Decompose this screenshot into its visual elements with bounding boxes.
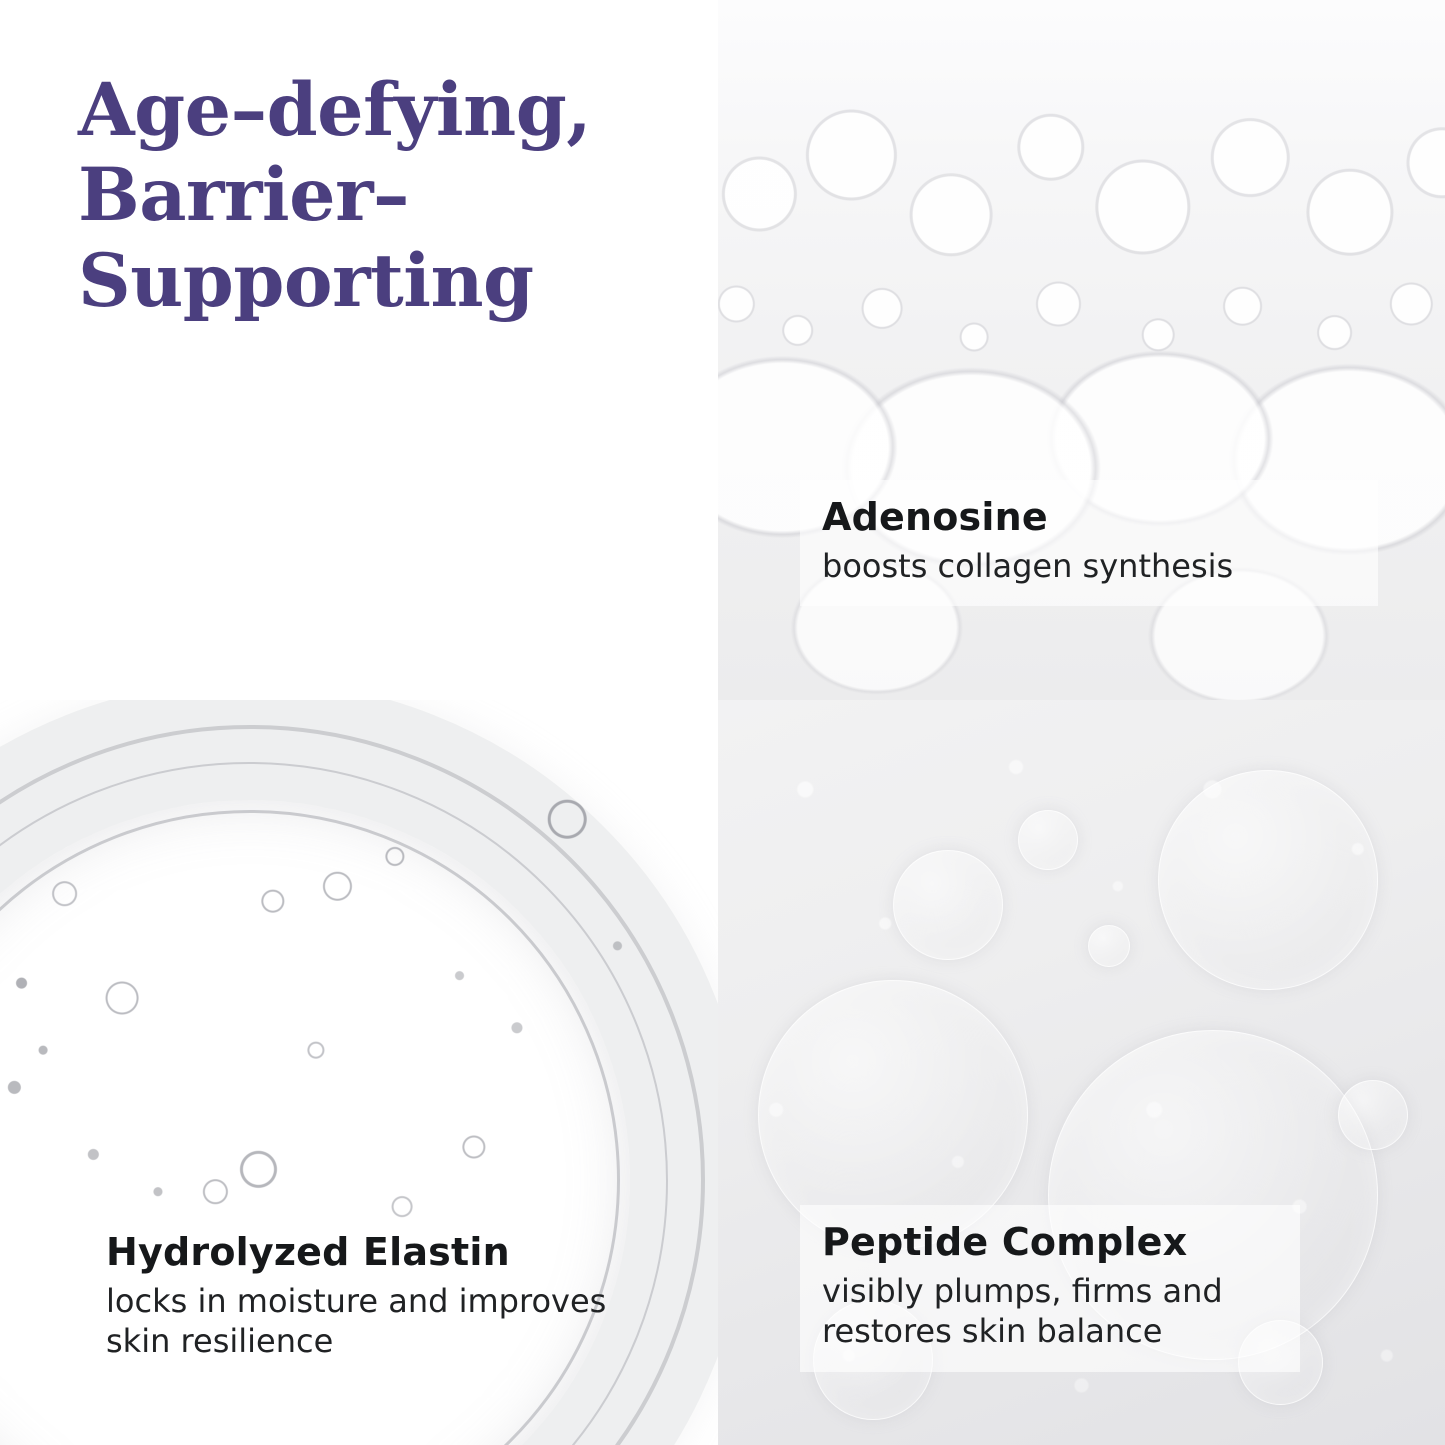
caption-subtitle: boosts collagen synthesis: [822, 546, 1356, 587]
caption-subtitle: locks in moisture and improves skin resi…: [106, 1281, 662, 1363]
product-benefits-infographic: Age–defying, Barrier– Supporting: [0, 0, 1445, 1445]
caption-title: Hydrolyzed Elastin: [106, 1229, 662, 1277]
caption-title: Adenosine: [822, 494, 1356, 542]
caption-adenosine: Adenosine boosts collagen synthesis: [800, 480, 1378, 606]
caption-peptide-complex: Peptide Complex visibly plumps, firms an…: [800, 1205, 1300, 1372]
caption-hydrolyzed-elastin: Hydrolyzed Elastin locks in moisture and…: [84, 1215, 684, 1382]
headline-panel: Age–defying, Barrier– Supporting: [0, 0, 718, 700]
page-title: Age–defying, Barrier– Supporting: [78, 68, 678, 324]
caption-title: Peptide Complex: [822, 1219, 1278, 1267]
caption-subtitle: visibly plumps, firms and restores skin …: [822, 1271, 1278, 1353]
